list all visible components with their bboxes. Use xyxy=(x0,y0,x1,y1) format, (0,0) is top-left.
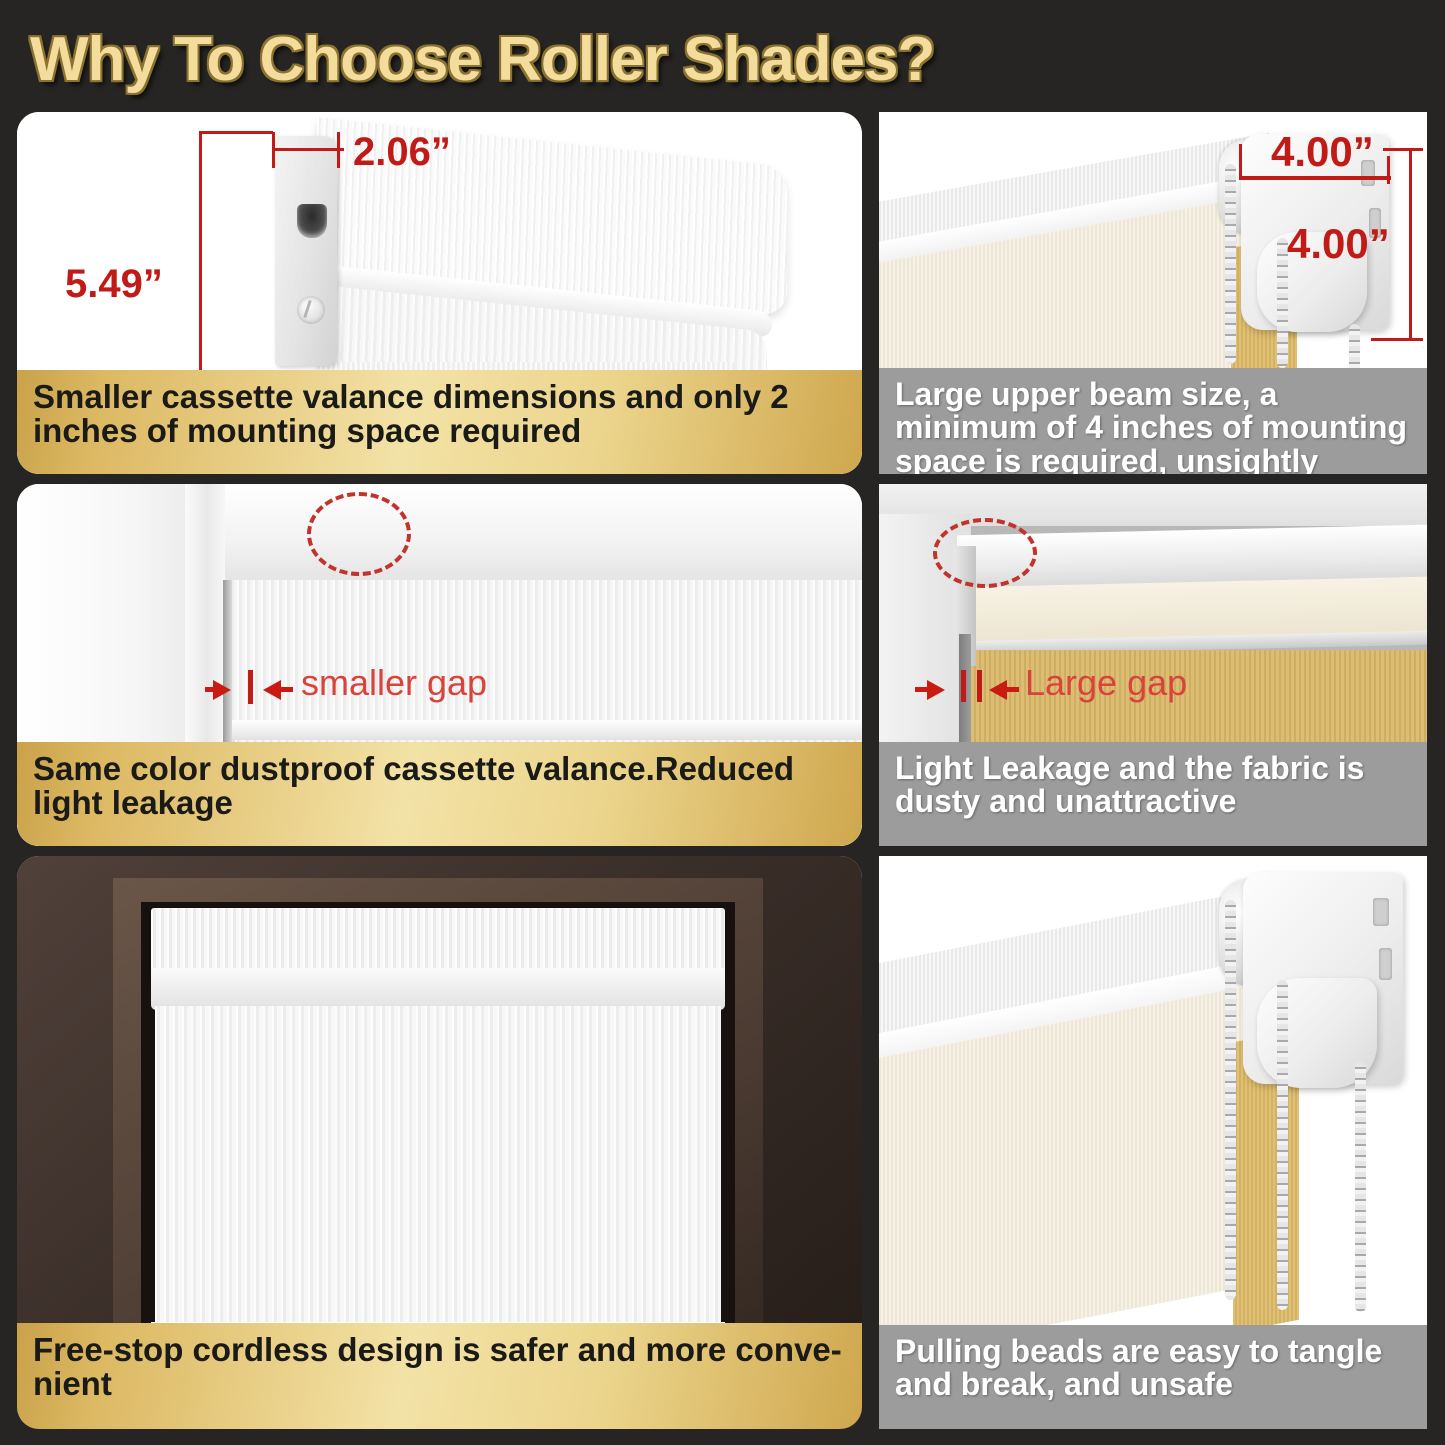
gap-arrow-left-stem xyxy=(915,687,931,692)
bead-chain-left xyxy=(1225,164,1236,364)
infographic-page: Why To Choose Roller Shades? 2.06” 5.49”… xyxy=(0,0,1445,1445)
beam-dim-tick-left xyxy=(1239,144,1242,180)
dim-tick-top-horizontal xyxy=(199,131,273,134)
window-header-trim xyxy=(185,484,862,584)
bracket-notch-bottom xyxy=(1379,948,1392,980)
bracket-notch-top xyxy=(1373,898,1389,926)
bracket-slot-icon xyxy=(297,204,327,238)
dim-line-horizontal xyxy=(272,148,344,151)
panel-free-stop-cordless: Free-stop cordless design is safer and m… xyxy=(17,856,862,1429)
highlight-circle-icon xyxy=(307,492,411,576)
gap-marker-line-a xyxy=(961,670,966,702)
page-title: Why To Choose Roller Shades? xyxy=(30,24,1410,96)
gap-arrow-right-stem xyxy=(1005,687,1019,692)
panel-light-leakage: Large gap Light Leakage and the fabric i… xyxy=(879,484,1427,846)
bead-chain-middle xyxy=(1277,980,1288,1310)
beam-dim-line-horizontal xyxy=(1239,176,1391,180)
valance-end-bracket xyxy=(275,136,337,366)
valance-mid-rail xyxy=(229,720,862,742)
panel-large-upper-beam: 4.00” 4.00” Large upper beam size, a min… xyxy=(879,112,1427,474)
panel-4-caption: Light Leakage and the fabric is dusty an… xyxy=(879,742,1427,846)
gap-marker-line-b xyxy=(977,670,982,702)
panel-pulling-beads: Pulling beads are easy to tangle and bre… xyxy=(879,856,1427,1429)
dimension-label-beam-width: 4.00” xyxy=(1271,128,1374,176)
cassette-valance xyxy=(229,580,862,730)
dimension-label-width: 2.06” xyxy=(353,130,451,175)
bracket-screw-icon xyxy=(297,296,325,324)
panel-3-caption: Same color dustproof cassette valance.Re… xyxy=(17,742,862,846)
gap-marker-line xyxy=(248,670,253,704)
cassette-valance xyxy=(151,908,725,976)
beam-dim-line-vertical xyxy=(1409,148,1412,340)
gap-label-smaller: smaller gap xyxy=(301,662,487,704)
valance-lip xyxy=(151,968,725,1010)
panel-cassette-valance-dimensions: 2.06” 5.49” Smaller cassette valance dim… xyxy=(17,112,862,474)
panel-5-caption: Free-stop cordless design is safer and m… xyxy=(17,1323,862,1429)
beam-dim-tick-bottom xyxy=(1371,338,1423,341)
panel-dustproof-cassette-valance: smaller gap Same color dustproof cassett… xyxy=(17,484,862,846)
bead-chain-left xyxy=(1225,900,1236,1300)
shade-fabric xyxy=(155,1006,721,1332)
bead-chain-right xyxy=(1349,324,1360,374)
gap-arrow-right-stem xyxy=(279,687,293,692)
dimension-label-height: 5.49” xyxy=(65,262,163,307)
panel-1-caption: Smaller cassette valance dimensions and … xyxy=(17,370,862,474)
panel-6-caption: Pulling beads are easy to tangle and bre… xyxy=(879,1325,1427,1429)
beam-dim-tick-top xyxy=(1383,148,1423,151)
highlight-circle-icon xyxy=(933,518,1037,588)
dimension-label-beam-height: 4.00” xyxy=(1287,220,1390,268)
beam-dim-tick-right xyxy=(1387,156,1390,184)
gap-label-large: Large gap xyxy=(1025,662,1187,704)
bead-chain-right xyxy=(1355,1062,1366,1312)
gap-arrow-left-stem xyxy=(205,687,219,692)
panel-2-caption: Large upper beam size, a minimum of 4 in… xyxy=(879,368,1427,474)
